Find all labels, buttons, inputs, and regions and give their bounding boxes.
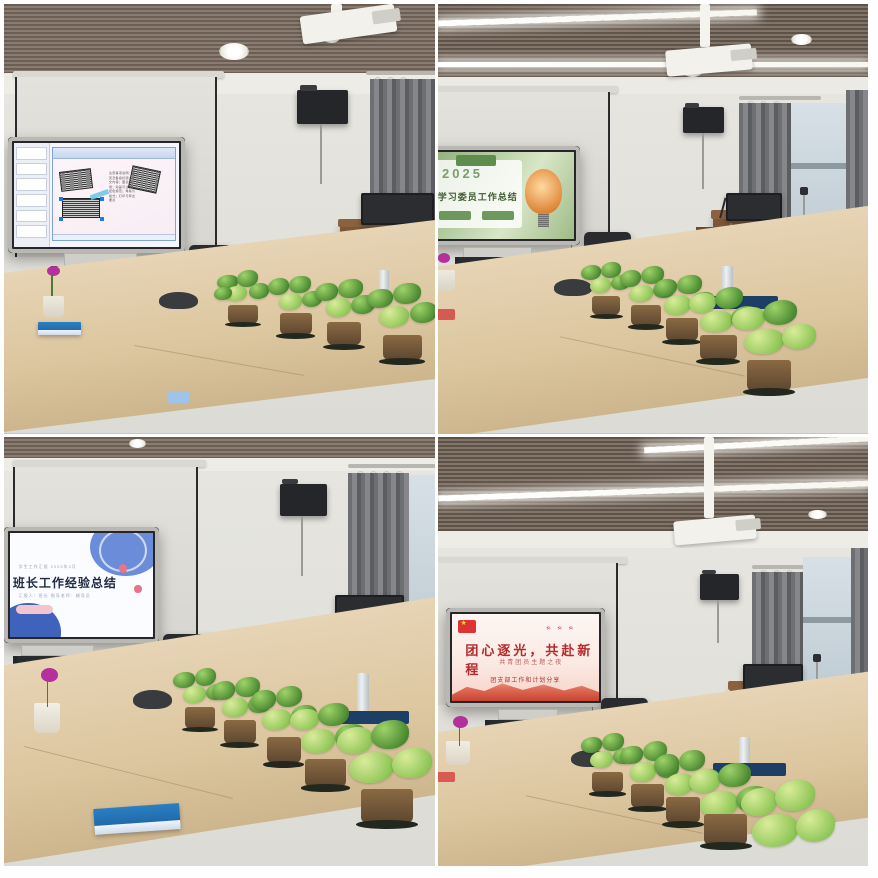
wall-speaker [700,574,739,600]
interactive-display[interactable]: ᨑ ᨑ ᨑ 团心逐光，共赴新程 共青团员主题之夜 团支部工作和计划分享 [446,608,605,707]
orchid-pot [438,270,455,291]
conference-microphone [159,292,198,309]
slide-title: 班长工作经验总结 [13,574,117,591]
slide-canvas[interactable]: 注意事项说明：首页及各级标题；正文内容；图表使用；动画与过渡；配色规范；母版与版… [53,159,174,234]
plant-pot [327,322,361,346]
slide-thumbnail[interactable] [16,210,47,222]
phone[interactable] [168,391,190,404]
display-screen[interactable]: 演示文稿 注意事项说明：首页及各级标题；正文内容；图表使用；动画与过渡；配色规范… [14,143,179,247]
slide-year: 2025 [442,166,483,181]
editor-toolbar[interactable] [53,148,174,159]
slide-youth-league-theme: ᨑ ᨑ ᨑ 团心逐光，共赴新程 共青团员主题之夜 团支部工作和计划分享 [452,614,599,701]
slide-powerpoint-editor: 演示文稿 注意事项说明：首页及各级标题；正文内容；图表使用；动画与过渡；配色规范… [14,143,179,247]
orchid-flower [453,716,468,728]
window-mullion [803,617,855,623]
window-mullion [791,163,851,169]
slide-subtitle: 共青团员主题之夜 [499,657,563,666]
downlight [219,43,249,60]
downlight [808,510,827,519]
orchid-pot [43,296,65,317]
slide-button-left [439,211,470,221]
potted-plant-leaves [335,720,430,793]
lightbulb-icon [525,169,562,214]
slide-thumbnail-rail[interactable] [14,143,50,247]
curtain-rail [366,71,435,75]
display-screen[interactable]: 学生工作汇报 2025年3月 班长工作经验总结 汇报人：班长 指导老师：辅导员 [10,533,153,637]
slide-button-right [482,211,513,221]
slide-thumbnail[interactable] [16,225,47,237]
collage-panel-bottom-left[interactable]: 学生工作汇报 2025年3月 班长工作经验总结 汇报人：班长 指导老师：辅导员 [4,437,435,867]
bird-decor-icon: ᨑ ᨑ ᨑ [546,625,576,633]
slide-pill [16,605,53,613]
resize-handle[interactable] [100,197,104,201]
projector-mount [700,4,709,47]
collage-panel-top-left[interactable]: 演示文稿 注意事项说明：首页及各级标题；正文内容；图表使用；动画与过渡；配色规范… [4,4,435,434]
slide-decor-dot [134,585,141,593]
potted-plant-leaves [739,780,834,857]
orchid-flower [41,668,58,682]
slide-image[interactable] [59,168,93,191]
slide-image-selected[interactable] [62,198,101,218]
plant-pot [228,305,258,324]
slide-footer: 团支部工作和计划分享 [490,675,560,684]
ceiling-light-strip [438,62,869,67]
slide-title: 学习委员工作总结 [438,190,518,203]
wall-speaker [280,484,327,516]
slide-editor-window[interactable]: 演示文稿 注意事项说明：首页及各级标题；正文内容；图表使用；动画与过渡；配色规范… [52,147,175,241]
slide-subtitle: 汇报人：班长 指导老师：辅导员 [19,593,91,599]
phone[interactable] [438,309,455,320]
slide-tab [456,155,496,165]
wall-speaker [297,90,349,124]
downlight [129,439,146,448]
wall-speaker [683,107,724,133]
plant-pot [592,296,620,315]
orchid-pot [34,703,60,733]
photo-collage: 演示文稿 注意事项说明：首页及各级标题；正文内容；图表使用；动画与过渡；配色规范… [0,0,878,878]
resize-handle[interactable] [59,217,63,221]
slide-thumbnail[interactable] [16,194,47,206]
projector-mount [704,437,713,519]
plant-pot [747,360,790,390]
podium-monitor [726,193,782,221]
resize-handle[interactable] [100,217,104,221]
slide-thumbnail[interactable] [16,163,47,175]
speaker-wire [717,600,719,643]
orchid-pot [446,741,470,765]
interactive-display[interactable]: 演示文稿 注意事项说明：首页及各级标题；正文内容；图表使用；动画与过渡；配色规范… [8,137,185,253]
slide-thumbnail[interactable] [16,147,47,159]
conference-microphone [133,690,172,709]
speaker-wire [320,124,322,184]
editor-status-bar [53,234,174,239]
phone[interactable] [438,772,455,783]
potted-plant-leaves [730,300,816,364]
curtain-rail [348,464,434,468]
plant-pot [280,313,312,334]
interactive-display[interactable]: 2025 学习委员工作总结 [438,146,580,245]
league-emblem-icon [458,620,476,634]
plant-pot [361,789,413,823]
speaker-wire [301,516,303,576]
display-screen[interactable]: ᨑ ᨑ ᨑ 团心逐光，共赴新程 共青团员主题之夜 团支部工作和计划分享 [452,614,599,701]
plant-pot [383,335,422,361]
ceiling-soffit [438,531,869,548]
slide-meta: 学生工作汇报 2025年3月 [19,564,77,570]
collage-panel-top-right[interactable]: 2025 学习委员工作总结 [438,4,869,434]
potted-plant-leaves [366,283,435,339]
ceiling-panels [4,437,435,458]
resize-handle[interactable] [59,197,63,201]
slide-thumbnail[interactable] [16,178,47,190]
slide-body-text: 注意事项说明：首页及各级标题；正文内容；图表使用；动画与过渡；配色规范；母版与版… [109,171,136,203]
collage-panel-bottom-right[interactable]: ᨑ ᨑ ᨑ 团心逐光，共赴新程 共青团员主题之夜 团支部工作和计划分享 [438,437,869,867]
curtain-rail [739,96,821,100]
slide-class-monitor-summary: 学生工作汇报 2025年3月 班长工作经验总结 汇报人：班长 指导老师：辅导员 [10,533,153,637]
speaker-wire [702,133,704,189]
slide-2025-summary: 2025 学习委员工作总结 [438,152,574,239]
notebook[interactable] [38,322,81,335]
interactive-display[interactable]: 学生工作汇报 2025年3月 班长工作经验总结 汇报人：班长 指导老师：辅导员 [4,527,159,643]
display-screen[interactable]: 2025 学习委员工作总结 [438,152,574,239]
